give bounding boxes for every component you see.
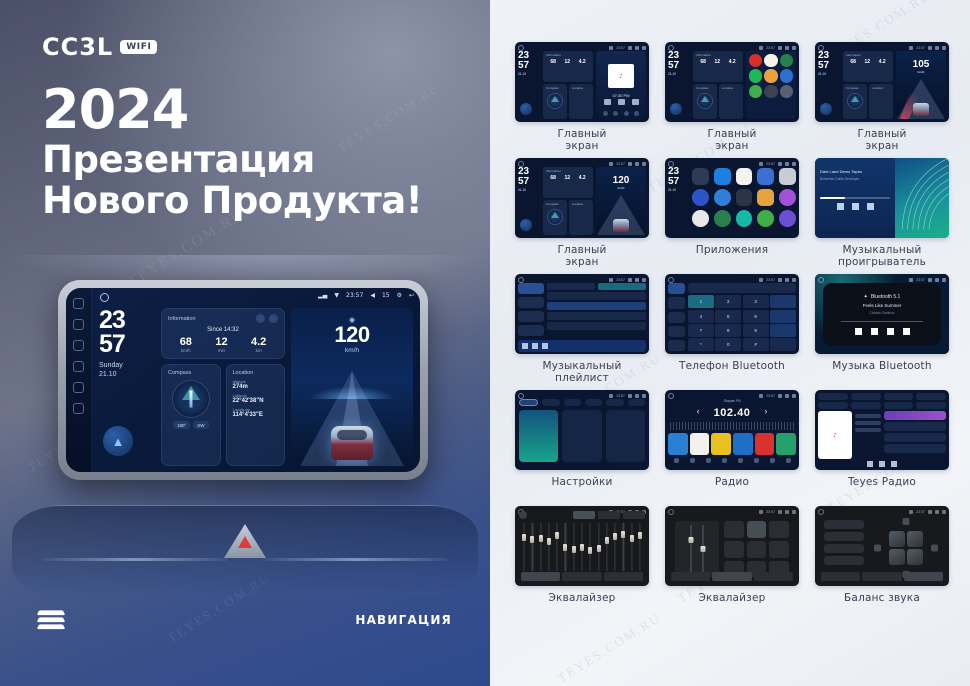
teyes-radio-filters[interactable] xyxy=(818,402,946,409)
preset-stations[interactable] xyxy=(668,433,796,455)
thumb-settings[interactable]: 23:57 xyxy=(515,390,649,470)
grid-tile[interactable]: 23:57 Shaylan FM ‹ 102.40 › xyxy=(662,390,802,500)
list-item[interactable] xyxy=(884,422,946,431)
user-avatar-icon[interactable]: ▲ xyxy=(103,426,133,456)
next-icon[interactable] xyxy=(867,203,874,210)
next-icon[interactable] xyxy=(542,343,548,349)
tab-more[interactable] xyxy=(604,572,643,581)
thumb-home-screen-media[interactable]: 23:57 235721.10 Information 68124.2 Comp… xyxy=(515,42,649,122)
tab-presets[interactable] xyxy=(862,572,901,581)
information-card[interactable]: Information 68124.2 xyxy=(693,51,743,82)
yandex-icon[interactable] xyxy=(764,54,777,67)
player-controls[interactable] xyxy=(820,203,890,210)
balance-preset-front[interactable] xyxy=(824,532,864,541)
track-title: Feels Like Summer xyxy=(863,303,902,308)
next-icon[interactable] xyxy=(903,328,910,335)
information-card[interactable]: Information 68124.2 xyxy=(543,51,593,82)
sidebar-item-tracks[interactable] xyxy=(518,283,544,294)
band-slider[interactable] xyxy=(637,523,643,571)
frequency-scale[interactable] xyxy=(670,422,794,430)
key-star[interactable]: * xyxy=(688,338,714,351)
information-card[interactable]: Information 68124.2 xyxy=(843,51,893,82)
band-slider[interactable] xyxy=(521,523,527,571)
filter-favorites[interactable] xyxy=(916,402,946,409)
pause-icon[interactable] xyxy=(852,203,859,210)
rail-icon-4[interactable] xyxy=(73,361,84,372)
mini-time: 23:57 xyxy=(766,278,775,282)
band-slider[interactable] xyxy=(529,523,535,571)
gear-icon xyxy=(785,278,789,282)
preset-flat[interactable] xyxy=(724,521,744,538)
rail-icon-6[interactable] xyxy=(73,403,84,414)
balance-preset-driver[interactable] xyxy=(824,520,864,529)
progress-bar[interactable] xyxy=(820,197,890,199)
key-2[interactable]: 2 xyxy=(715,295,741,308)
grid-tile[interactable]: 23:57 xyxy=(512,506,652,616)
compass-card[interactable]: Compass 180° SW xyxy=(161,364,221,466)
balance-preset-rear[interactable] xyxy=(824,544,864,553)
bluetooth-music-icon[interactable] xyxy=(736,168,753,185)
bluetooth-icon[interactable] xyxy=(714,168,731,185)
more-icon[interactable] xyxy=(606,410,645,462)
list-item[interactable] xyxy=(884,411,946,420)
tab-general[interactable] xyxy=(585,399,602,406)
sidebar-item-recents[interactable] xyxy=(668,326,685,337)
tab-more[interactable] xyxy=(754,572,793,581)
grid-tile[interactable]: ♪ xyxy=(812,390,952,500)
band-slider[interactable] xyxy=(571,523,577,571)
thumb-music-playlist[interactable]: 23:57 xyxy=(515,274,649,354)
tile-label: Настройки xyxy=(551,476,612,500)
thumb-equalizer-bands[interactable]: 23:57 xyxy=(515,506,649,586)
sidebar-item-dialpad[interactable] xyxy=(668,283,685,294)
dock-icon-4[interactable] xyxy=(634,111,639,116)
rds-icon[interactable] xyxy=(738,458,743,463)
location-card[interactable]: Location Altitude 274m Latitude 22°42'38… xyxy=(226,364,286,466)
grid-tile[interactable]: 23:57 1 2 xyxy=(662,274,802,384)
compass-values: 180° SW xyxy=(168,421,214,429)
wifi-icon xyxy=(909,46,913,50)
preset-2[interactable] xyxy=(690,433,710,455)
call-icon[interactable] xyxy=(770,324,796,337)
mini-date: 21.10 xyxy=(818,73,840,76)
ta-icon[interactable] xyxy=(754,458,759,463)
tab-balance[interactable] xyxy=(562,572,601,581)
information-title: Information xyxy=(696,53,740,57)
thumb-equalizer-presets[interactable]: 23:57 xyxy=(665,506,799,586)
balance-preset-all[interactable] xyxy=(824,556,864,565)
toolbar-item-3[interactable] xyxy=(884,393,914,400)
next-icon[interactable] xyxy=(632,99,639,105)
settings-icon[interactable] xyxy=(764,85,777,98)
thumb-bluetooth-music[interactable]: 23:57 ✦ Bluetooth 5.1 Feels Like Summer … xyxy=(815,274,949,354)
key-0[interactable]: 0 xyxy=(715,338,741,351)
rail-icon-5[interactable] xyxy=(73,382,84,393)
arrow-up-icon[interactable] xyxy=(903,518,910,525)
filter-all[interactable] xyxy=(818,402,848,409)
band-slider[interactable] xyxy=(579,523,585,571)
arrow-left-icon[interactable] xyxy=(874,545,881,552)
key-7[interactable]: 7 xyxy=(688,324,714,337)
drive-widget[interactable]: 120km/h xyxy=(596,167,646,235)
list-item[interactable] xyxy=(884,433,946,442)
play-store-icon[interactable] xyxy=(749,85,762,98)
next-icon[interactable] xyxy=(891,461,897,467)
player-controls[interactable] xyxy=(855,328,910,335)
equalizer-footer-tabs[interactable] xyxy=(821,572,943,581)
speaker-front-left[interactable] xyxy=(889,531,905,547)
grid-tile[interactable]: 23:57 xyxy=(812,506,952,616)
grid-tile[interactable]: 23:57 235721.10 Information 68124.2 Comp… xyxy=(512,158,652,268)
band-slider[interactable] xyxy=(612,523,618,571)
eq-icon[interactable] xyxy=(722,458,727,463)
grid-tile[interactable]: 23:57 xyxy=(512,390,652,500)
back-icon xyxy=(942,46,946,50)
playlist-tabs[interactable] xyxy=(547,283,646,290)
volume-icon xyxy=(778,46,782,50)
toolbar-item-2[interactable] xyxy=(851,393,881,400)
grid-tile[interactable]: 23:57 ✦ Bluetooth 5.1 Feels Like Summer … xyxy=(812,274,952,384)
tab-eq[interactable] xyxy=(821,572,860,581)
sidebar-item-search[interactable] xyxy=(668,312,685,323)
application-grid[interactable] xyxy=(692,167,796,235)
preset-jazz[interactable] xyxy=(747,541,767,558)
music-player-icon[interactable] xyxy=(736,210,753,227)
preset-3[interactable] xyxy=(711,433,731,455)
volume-icon xyxy=(778,162,782,166)
settings-cards[interactable] xyxy=(519,410,645,462)
media-dock[interactable] xyxy=(600,111,642,116)
key-8[interactable]: 8 xyxy=(715,324,741,337)
preset-icon[interactable] xyxy=(519,511,527,519)
band-icon[interactable] xyxy=(674,458,679,463)
toolbar-item-1[interactable] xyxy=(818,393,848,400)
drive-view[interactable]: ◉ 120 km/h xyxy=(291,308,413,466)
grid-tile[interactable]: 23:57 235721.10 Information 68124.2 Comp… xyxy=(662,42,802,152)
prev-icon[interactable] xyxy=(855,328,862,335)
chrome-icon[interactable] xyxy=(692,189,709,206)
grid-tile[interactable]: 23:57 xyxy=(662,506,802,616)
rail-icon-3[interactable] xyxy=(73,340,84,351)
filter-country[interactable] xyxy=(884,402,914,409)
preset-5[interactable] xyxy=(755,433,775,455)
speed-value: 105 xyxy=(913,59,930,70)
contacts-icon[interactable] xyxy=(714,189,731,206)
thumb-home-screen-drive[interactable]: 23:57 235721.10 Information 68124.2 Comp… xyxy=(815,42,949,122)
prev-icon[interactable] xyxy=(522,343,528,349)
teyes-radio-controls[interactable] xyxy=(818,461,946,467)
gear-icon[interactable]: ⚙ xyxy=(397,292,402,299)
player-info-pane: Dark Land Demo Tapes Bohemian Guitar Dev… xyxy=(815,158,895,238)
band-slider[interactable] xyxy=(620,523,626,571)
tab-sound[interactable] xyxy=(542,399,559,406)
hazard-button[interactable] xyxy=(224,524,266,558)
thumb-applications[interactable]: 23:57 235721.10 xyxy=(665,158,799,238)
tile-label: Главныйэкран xyxy=(707,128,756,152)
stop-icon[interactable] xyxy=(887,328,894,335)
slider-right[interactable] xyxy=(702,525,704,573)
grid-tile[interactable]: 23:57 235721.10 Information 68124.2 Comp… xyxy=(512,42,652,152)
list-item[interactable] xyxy=(884,444,946,453)
tab-online[interactable] xyxy=(598,283,646,290)
rail-icon-1[interactable] xyxy=(73,298,84,309)
prev-icon[interactable] xyxy=(604,99,611,105)
back-icon[interactable]: ↩ xyxy=(409,292,414,299)
grid-tile[interactable]: 23:57 Dark Land Demo Tapes Bohemian Guit… xyxy=(812,158,952,268)
play-pause-icon[interactable] xyxy=(871,328,878,335)
list-item[interactable] xyxy=(547,312,646,320)
speed-readout: 105km/h xyxy=(896,59,946,74)
list-icon[interactable] xyxy=(706,458,711,463)
track-title: Dark Land Demo Tapes xyxy=(820,169,862,174)
back-icon xyxy=(792,394,796,398)
dock-icon-2[interactable] xyxy=(613,111,618,116)
search-icon[interactable] xyxy=(690,458,695,463)
head-unit-bezel: ▂▄ ▼ 23:57 ◀ 15 ⚙ ↩ 23 57 xyxy=(58,280,428,480)
preset-6[interactable] xyxy=(776,433,796,455)
tab-eq[interactable] xyxy=(521,572,560,581)
layers-icon[interactable] xyxy=(38,609,64,631)
key-3[interactable]: 3 xyxy=(743,295,769,308)
preset-buttons[interactable] xyxy=(724,521,789,577)
preset-4[interactable] xyxy=(733,433,753,455)
avin-icon[interactable] xyxy=(692,168,709,185)
grid-tile[interactable]: 23:57 xyxy=(512,274,652,384)
backspace-icon[interactable] xyxy=(770,310,796,323)
list-item[interactable] xyxy=(547,322,646,330)
preset-1[interactable] xyxy=(668,433,688,455)
balance-presets-list[interactable] xyxy=(824,520,864,576)
settings-icon[interactable] xyxy=(786,458,791,463)
progress-bar[interactable] xyxy=(841,321,924,322)
arrow-right-icon[interactable] xyxy=(931,545,938,552)
tab-personal[interactable] xyxy=(606,399,623,406)
home-icon[interactable] xyxy=(668,393,674,399)
tab-system[interactable] xyxy=(628,399,645,406)
tab-local[interactable] xyxy=(547,283,595,290)
grid-tile[interactable]: 23:57 235721.10 Information 68124.2 Comp… xyxy=(812,42,952,152)
location-title: Location xyxy=(572,202,590,206)
prev-icon[interactable] xyxy=(867,461,873,467)
preset-classic[interactable] xyxy=(747,521,767,538)
volume-icon[interactable]: ◀ xyxy=(370,292,375,299)
user-avatar-icon[interactable] xyxy=(520,103,532,115)
balance-pad[interactable] xyxy=(872,520,940,576)
band-slider[interactable] xyxy=(595,523,601,571)
sidebar-item-folders[interactable] xyxy=(518,325,544,336)
key-1[interactable]: 1 xyxy=(688,295,714,308)
tab-balance[interactable] xyxy=(904,572,943,581)
messages-icon[interactable] xyxy=(780,69,793,82)
presentation-page: TEYES.COM.RU TEYES.COM.RU TEYES.COM.RU T… xyxy=(0,0,970,686)
compass-card[interactable]: Compass xyxy=(843,84,867,119)
user-avatar-icon[interactable] xyxy=(820,103,832,115)
mini-time: 23:57 xyxy=(616,162,625,166)
list-item[interactable] xyxy=(547,302,646,310)
now-playing-bar[interactable] xyxy=(518,340,646,352)
sidebar-item-albums[interactable] xyxy=(518,297,544,308)
thumb-sound-balance[interactable]: 23:57 xyxy=(815,506,949,586)
thumb-teyes-radio[interactable]: ♪ xyxy=(815,390,949,470)
tab-eq[interactable] xyxy=(671,572,710,581)
mini-time: 23:57 xyxy=(766,394,775,398)
equalizer-header[interactable] xyxy=(519,510,645,520)
filter-genre[interactable] xyxy=(851,402,881,409)
thumb-radio[interactable]: 23:57 Shaylan FM ‹ 102.40 › xyxy=(665,390,799,470)
location-card[interactable]: Location xyxy=(719,84,743,119)
preset-button-1[interactable] xyxy=(573,511,595,519)
sidebar-rail[interactable] xyxy=(66,288,92,472)
camera-icon[interactable] xyxy=(779,168,796,185)
speaker-front-right[interactable] xyxy=(907,531,923,547)
home-icon[interactable] xyxy=(818,277,824,283)
phone-sidebar[interactable] xyxy=(668,283,685,351)
track-artist: Childish Gambino xyxy=(869,311,894,315)
media-controls[interactable] xyxy=(596,99,646,105)
user-avatar-icon[interactable] xyxy=(670,103,682,115)
grid-tile[interactable]: 23:57 235721.10 xyxy=(662,158,802,268)
list-item[interactable] xyxy=(547,292,646,300)
app-shortcuts-widget[interactable] xyxy=(746,51,796,119)
equalizer-footer-tabs[interactable] xyxy=(671,572,793,581)
calculator-icon[interactable] xyxy=(757,168,774,185)
logo-model-text: CC3L xyxy=(42,33,113,61)
thumb-music-player[interactable]: 23:57 Dark Land Demo Tapes Bohemian Guit… xyxy=(815,158,949,238)
radio-icon[interactable] xyxy=(779,210,796,227)
dock-icon-1[interactable] xyxy=(603,111,608,116)
equalizer-bands[interactable] xyxy=(519,523,645,571)
preset-rock[interactable] xyxy=(724,541,744,558)
information-card[interactable]: Information Since 14:32 xyxy=(161,308,285,359)
tab-wlan[interactable] xyxy=(519,399,538,406)
key-9[interactable]: 9 xyxy=(743,324,769,337)
af-icon[interactable] xyxy=(770,458,775,463)
prev-station-icon[interactable]: ‹ xyxy=(697,406,700,416)
maps-icon[interactable] xyxy=(780,54,793,67)
refresh-icon[interactable] xyxy=(256,314,265,323)
location-altitude: Altitude 274m xyxy=(233,379,279,390)
wifi-icon xyxy=(609,394,613,398)
equalizer-footer-tabs[interactable] xyxy=(521,572,643,581)
play-store-icon[interactable] xyxy=(757,210,774,227)
spotify-icon[interactable] xyxy=(749,69,762,82)
radio-dock[interactable] xyxy=(668,458,796,463)
thumb-home-screen-apps[interactable]: 23:57 235721.10 Information 68124.2 Comp… xyxy=(665,42,799,122)
thumb-home-screen-drive2[interactable]: 23:57 235721.10 Information 68124.2 Comp… xyxy=(515,158,649,238)
slider-left[interactable] xyxy=(690,525,692,573)
band-slider[interactable] xyxy=(562,523,568,571)
settings-tabs[interactable] xyxy=(519,399,645,406)
traffic-usage-icon[interactable] xyxy=(562,410,601,462)
file-manager-icon[interactable] xyxy=(757,189,774,206)
dock-icon-3[interactable] xyxy=(624,111,629,116)
apps-grid-icon[interactable] xyxy=(780,85,793,98)
sidebar-item-favorites[interactable] xyxy=(518,311,544,322)
speaker-rear-right[interactable] xyxy=(907,549,923,565)
sidebar-item-settings[interactable] xyxy=(668,340,685,351)
toolbar-item-4[interactable] xyxy=(916,393,946,400)
expand-icon[interactable] xyxy=(269,314,278,323)
location-card[interactable]: Location xyxy=(569,200,593,235)
compass-card[interactable]: Compass xyxy=(543,84,567,119)
preset-button-3[interactable] xyxy=(623,511,645,519)
sidebar-item-contacts[interactable] xyxy=(668,297,685,308)
head-unit-screen[interactable]: ▂▄ ▼ 23:57 ◀ 15 ⚙ ↩ 23 57 xyxy=(66,288,420,472)
information-card[interactable]: Information 68124.2 xyxy=(543,167,593,198)
maps-icon[interactable] xyxy=(714,210,731,227)
head-unit-body: ▂▄ ▼ 23:57 ◀ 15 ⚙ ↩ 23 57 xyxy=(92,288,420,472)
location-card[interactable]: Location xyxy=(869,84,893,119)
tab-presets[interactable] xyxy=(712,572,751,581)
home-icon[interactable] xyxy=(668,277,674,283)
level-sliders[interactable] xyxy=(675,521,719,577)
location-card[interactable]: Location xyxy=(569,84,593,119)
volume-icon xyxy=(928,278,932,282)
band-slider[interactable] xyxy=(554,523,560,571)
key-5[interactable]: 5 xyxy=(715,310,741,323)
stat-speed: 68 km/h xyxy=(180,336,192,353)
vent-line-right xyxy=(262,558,448,561)
band-slider[interactable] xyxy=(628,523,634,571)
compass-card[interactable]: Compass xyxy=(543,200,567,235)
prev-icon[interactable] xyxy=(837,203,844,210)
wifi-icon[interactable] xyxy=(519,410,558,462)
information-actions[interactable] xyxy=(256,314,278,323)
youtube-icon[interactable] xyxy=(749,54,762,67)
thumb-bluetooth-phone[interactable]: 23:57 1 2 xyxy=(665,274,799,354)
dialpad[interactable]: 1 2 3 4 5 6 7 8 9 xyxy=(688,295,796,351)
home-icon[interactable] xyxy=(100,293,109,302)
home-icon[interactable] xyxy=(518,393,524,399)
teyes-radio-toolbar[interactable] xyxy=(818,393,946,400)
preset-pop[interactable] xyxy=(769,521,789,538)
mini-time: 23:57 xyxy=(616,394,625,398)
dsp-equalizer-icon[interactable] xyxy=(736,189,753,206)
speaker-quadrants[interactable] xyxy=(889,531,923,565)
back-icon xyxy=(792,46,796,50)
stop-icon[interactable] xyxy=(879,461,885,467)
gallery-icon[interactable] xyxy=(764,69,777,82)
compass-card[interactable]: Compass xyxy=(693,84,717,119)
gallery-icon[interactable] xyxy=(779,189,796,206)
favorite-icon[interactable] xyxy=(770,295,796,308)
google-icon[interactable] xyxy=(692,210,709,227)
preset-button-2[interactable] xyxy=(598,511,620,519)
key-4[interactable]: 4 xyxy=(688,310,714,323)
key-6[interactable]: 6 xyxy=(743,310,769,323)
home-icon[interactable] xyxy=(518,277,524,283)
key-hash[interactable]: # xyxy=(743,338,769,351)
tab-display[interactable] xyxy=(564,399,581,406)
rail-icon-2[interactable] xyxy=(73,319,84,330)
band-slider[interactable] xyxy=(604,523,610,571)
speed-readout: 120km/h xyxy=(596,175,646,190)
play-icon[interactable] xyxy=(618,99,625,105)
compass-needle xyxy=(189,391,192,408)
information-title: Information xyxy=(168,316,196,322)
band-slider[interactable] xyxy=(538,523,544,571)
speed-unit: km/h xyxy=(291,347,413,354)
media-widget[interactable]: ♪ 07:30 PM xyxy=(596,51,646,119)
band-slider[interactable] xyxy=(546,523,552,571)
next-station-icon[interactable]: › xyxy=(764,406,767,416)
preset-vocal[interactable] xyxy=(769,541,789,558)
station-list[interactable] xyxy=(884,411,946,459)
speaker-rear-left[interactable] xyxy=(889,549,905,565)
pause-icon[interactable] xyxy=(532,343,538,349)
band-slider[interactable] xyxy=(587,523,593,571)
drive-widget[interactable]: 105km/h xyxy=(896,51,946,119)
